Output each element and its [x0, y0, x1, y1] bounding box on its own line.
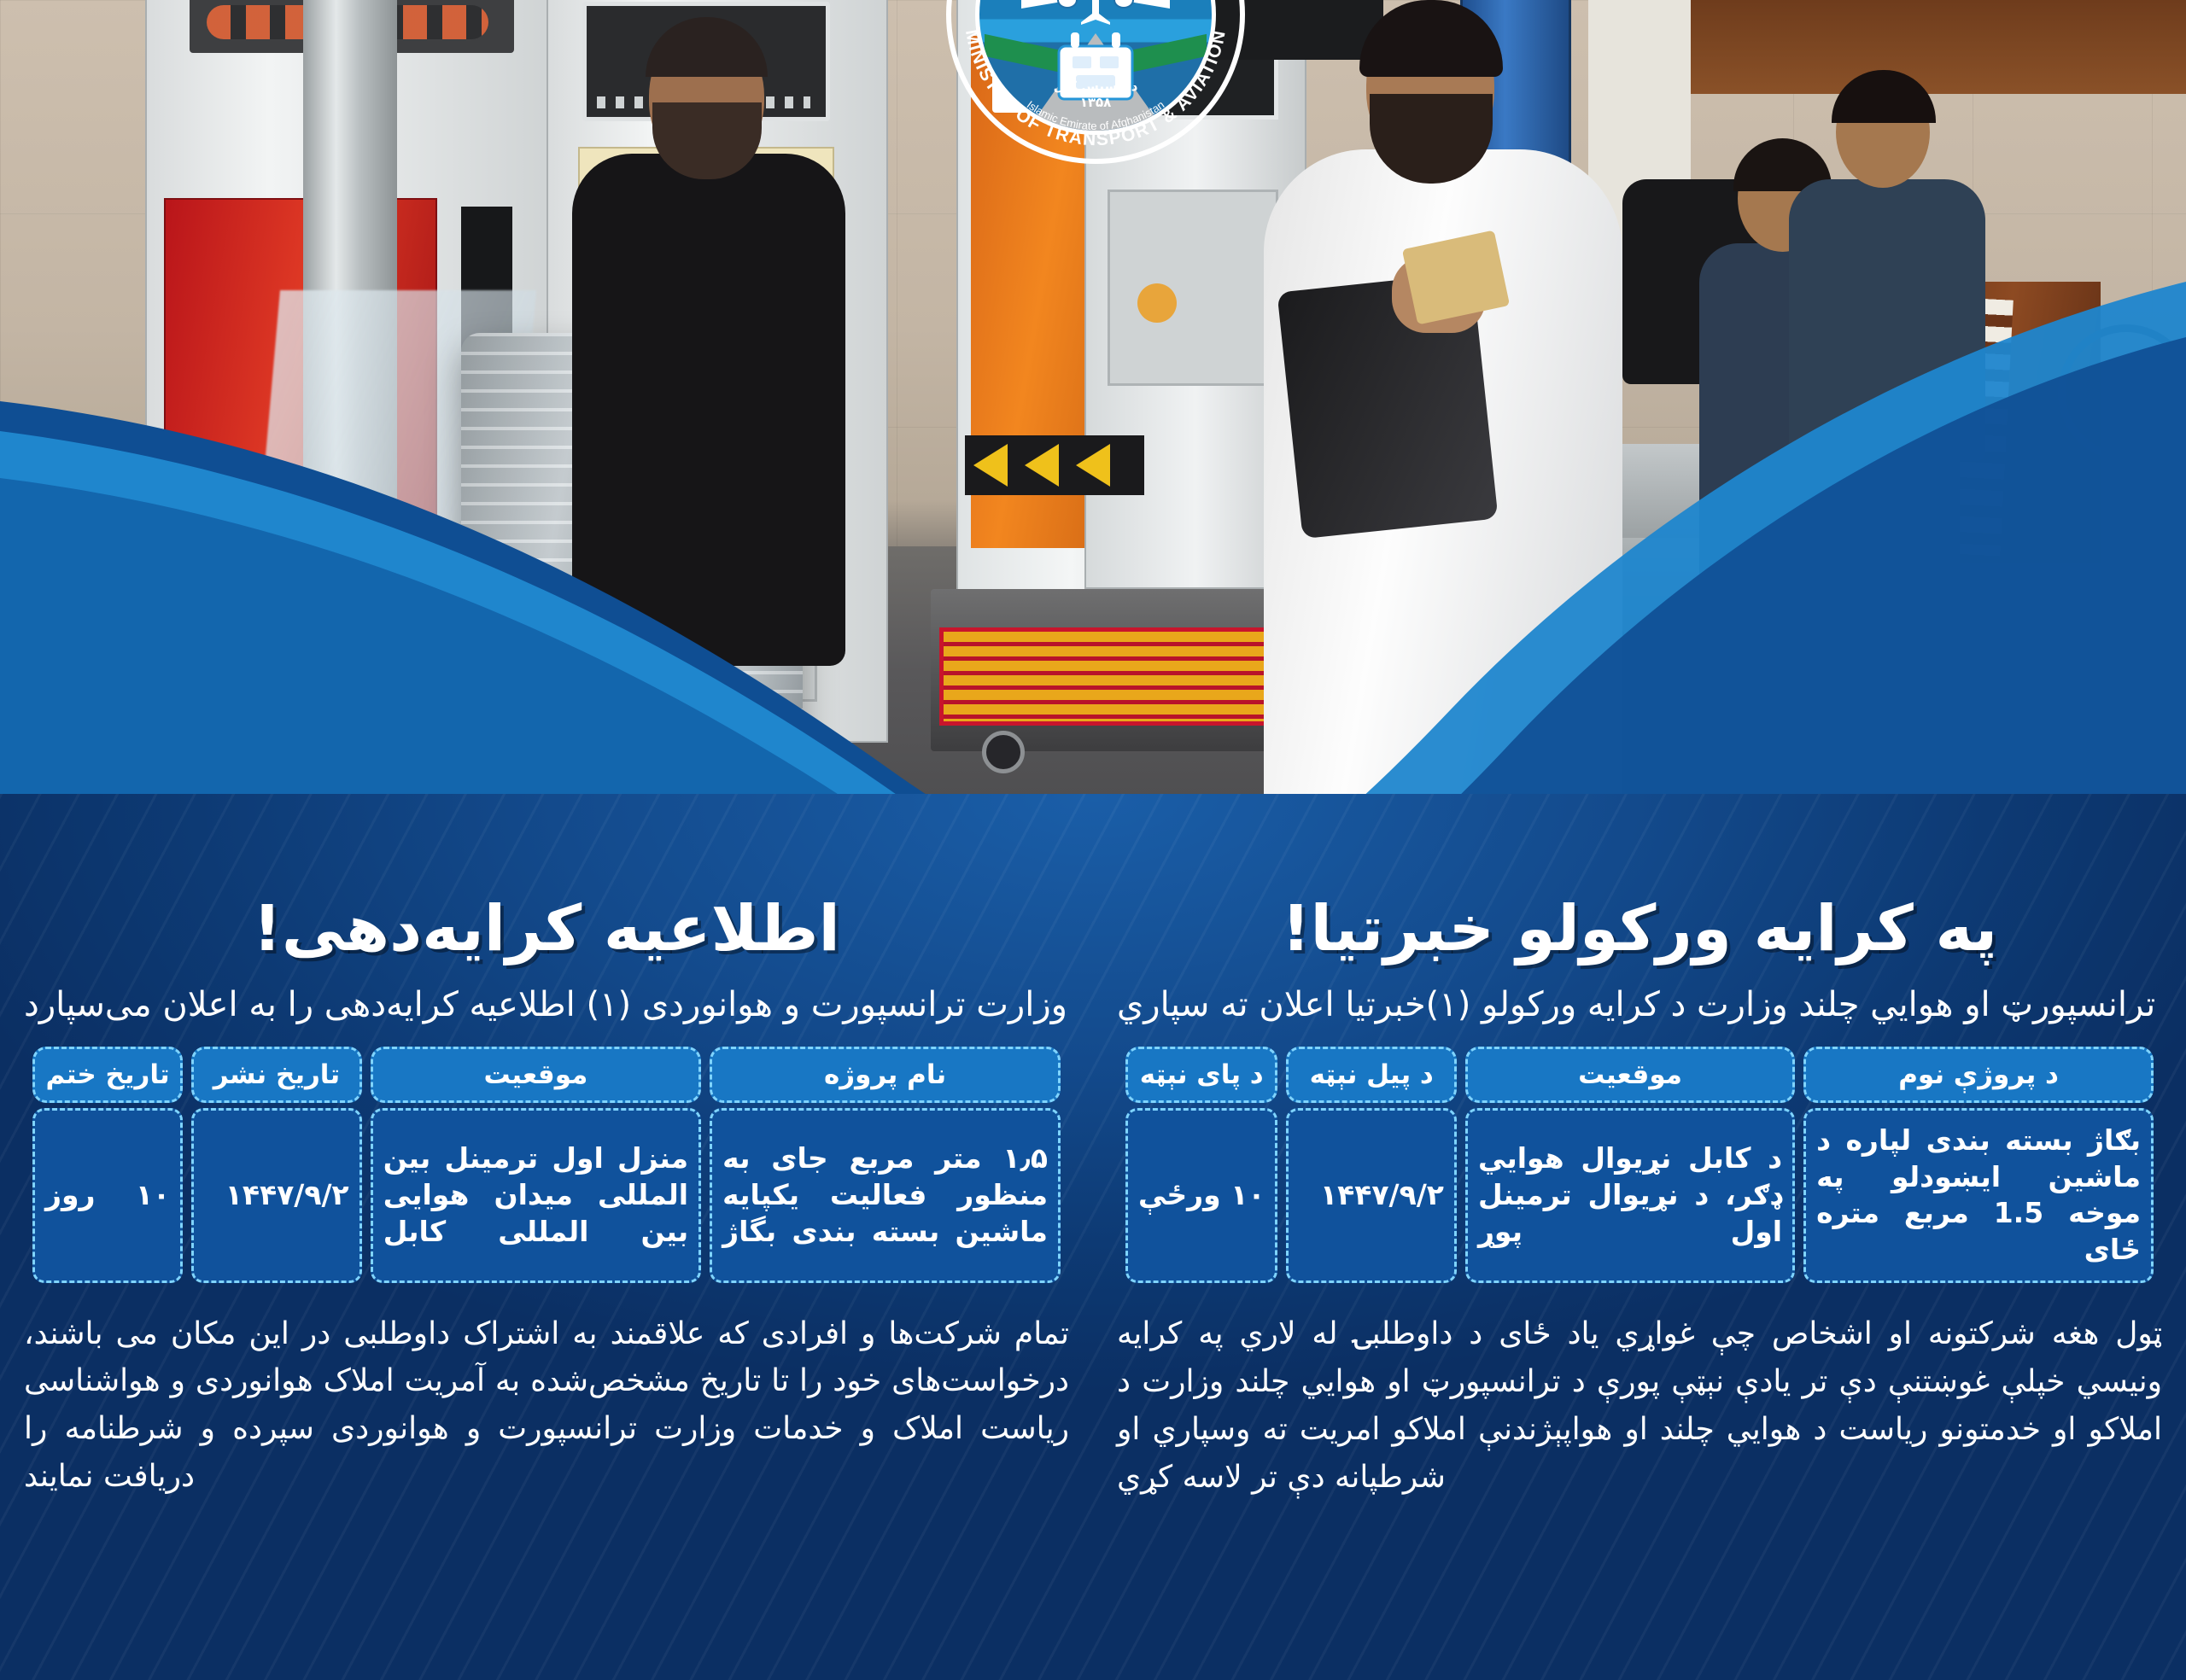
dari-headline: اطلاعیه کرایه‌دهی!	[24, 896, 1069, 963]
photo-passenger-white-robe	[1264, 0, 1622, 862]
table-row: بګاژ بسته بندی لپاره د ماشین ایښودلو په …	[1125, 1108, 2154, 1284]
pashto-headline: په کرایه ورکولو خبرتیا!	[1117, 896, 2162, 963]
pashto-td-location: د کابل نړیوال هوايي ډګر، د نړیوال ترمینل…	[1465, 1108, 1795, 1284]
emblem-founded-block: د تاسیس کال ۱۳۵۸	[946, 79, 1245, 111]
pashto-table: د پروژې نوم موقعیت د پیل نېټه د پای نېټه…	[1117, 1041, 2162, 1289]
emblem-founded-year: ۱۳۵۸	[946, 95, 1245, 111]
dari-td-project: ۱٫۵ متر مربع جای به منظور فعالیت یکپایه …	[710, 1108, 1061, 1283]
dari-column: اطلاعیه کرایه‌دهی! وزارت ترانسپورت و هوا…	[0, 896, 1093, 1680]
dari-subline: وزارت ترانسپورت و هوانوردی (۱) اطلاعیه ک…	[24, 982, 1069, 1028]
pashto-th-start: د پیل نېټه	[1286, 1047, 1456, 1103]
dari-th-location: موقعیت	[371, 1047, 701, 1103]
photo-chevron-marks	[965, 435, 1144, 495]
dari-th-publish: تاریخ نشر	[191, 1047, 362, 1103]
table-header-row: نام پروژه موقعیت تاریخ نشر تاریخ ختم	[32, 1047, 1061, 1103]
dari-td-deadline: ۱۰ روز	[32, 1108, 183, 1283]
photo-person-background-b	[1785, 77, 1990, 632]
pashto-th-location: موقعیت	[1465, 1047, 1795, 1103]
pashto-note: ټول هغه شرکتونه او اشخاص چې غواړي یاد ځا…	[1117, 1310, 2162, 1501]
pashto-column: په کرایه ورکولو خبرتیا! ترانسپورټ او هوا…	[1093, 896, 2186, 1680]
pashto-td-start: ۱۴۴۷/۹/۲	[1286, 1108, 1456, 1284]
pashto-subline: ترانسپورټ او هوايي چلند وزارت د کرایه ور…	[1117, 982, 2162, 1028]
ministry-emblem: د افغانستان اسلامي امارت MINISTRY OF TRA…	[946, 0, 1245, 164]
dari-note: تمام شرکت‌ها و افرادی که علاقمند به اشتر…	[24, 1310, 1069, 1501]
pashto-td-end: ۱۰ ورځې	[1125, 1108, 1277, 1284]
table-row: ۱٫۵ متر مربع جای به منظور فعالیت یکپایه …	[32, 1108, 1061, 1283]
announcement-columns: په کرایه ورکولو خبرتیا! ترانسپورټ او هوا…	[0, 896, 2186, 1680]
emblem-founded-label: د تاسیس کال	[946, 79, 1245, 95]
poster-canvas: فی بیک ۲۰۰ افغانی GN Fly Ryhemo	[0, 0, 2186, 1680]
dari-td-publish: ۱۴۴۷/۹/۲	[191, 1108, 362, 1283]
photo-worker	[564, 9, 845, 657]
dari-td-location: منزل اول ترمینل بین المللی میدان هوایی ب…	[371, 1108, 701, 1283]
pashto-td-project: بګاژ بسته بندی لپاره د ماشین ایښودلو په …	[1803, 1108, 2154, 1284]
table-header-row: د پروژې نوم موقعیت د پیل نېټه د پای نېټه	[1125, 1047, 2154, 1103]
dari-table: نام پروژه موقعیت تاریخ نشر تاریخ ختم ۱٫۵…	[24, 1041, 1069, 1288]
dari-th-deadline: تاریخ ختم	[32, 1047, 183, 1103]
photo-wheelchair	[2049, 324, 2186, 478]
pashto-th-end: د پای نېټه	[1125, 1047, 1277, 1103]
dari-th-project: نام پروژه	[710, 1047, 1061, 1103]
pashto-th-project: د پروژې نوم	[1803, 1047, 2154, 1103]
